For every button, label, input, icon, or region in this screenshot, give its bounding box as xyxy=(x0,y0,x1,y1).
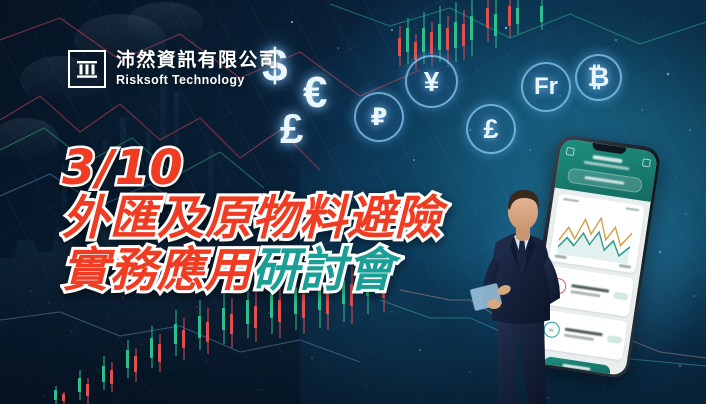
company-name-cn: 沛然資訊有限公司 xyxy=(116,51,279,70)
company-logo: 沛然資訊有限公司 Risksoft Technology xyxy=(68,50,279,88)
event-date: 3/10 xyxy=(62,144,442,192)
item-badge xyxy=(613,291,629,300)
headline-line-3-main: 實務應用 xyxy=(62,243,252,298)
pound-sign-ring-icon: £ xyxy=(466,104,516,154)
app-subtitle xyxy=(584,160,630,170)
headline-block: 3/10 外匯及原物料避險 實務應用研討會 xyxy=(62,144,442,296)
ruble-sign-icon: ₽ xyxy=(354,92,404,142)
headline-line-2: 外匯及原物料避險 xyxy=(62,194,442,244)
headline-line-3-accent: 研討會 xyxy=(252,243,395,298)
bank-building-icon xyxy=(68,50,106,88)
euro-sign-icon: € xyxy=(303,68,327,118)
businessman-with-tablet xyxy=(470,186,578,404)
yen-sign-icon: ¥ xyxy=(405,55,458,108)
item-badge xyxy=(606,334,622,343)
company-name-en: Risksoft Technology xyxy=(116,74,279,87)
app-menu-icon[interactable] xyxy=(641,158,650,167)
app-back-icon[interactable] xyxy=(565,146,574,155)
headline-line-3: 實務應用研討會 xyxy=(62,246,442,296)
franc-symbol-icon: Fr xyxy=(521,62,571,112)
bitcoin-sign-icon: ₿ xyxy=(575,54,622,101)
seminar-banner: $ € £ ₽ ¥ £ Fr ₿ xyxy=(0,0,706,404)
app-title xyxy=(593,154,623,162)
